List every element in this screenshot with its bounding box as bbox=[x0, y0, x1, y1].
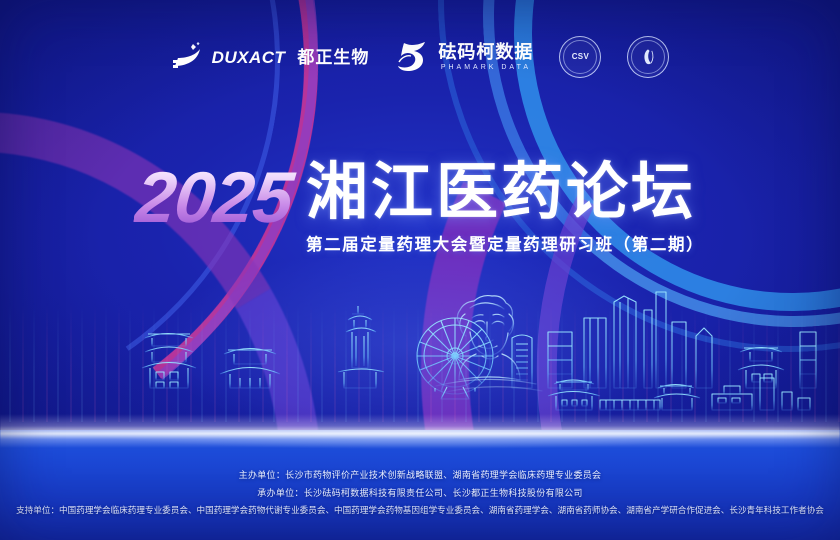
csv-seal-icon: CSV bbox=[559, 36, 601, 78]
csv-seal-label: CSV bbox=[572, 53, 589, 61]
logo-duxact: DUXACT 都正生物 bbox=[171, 40, 370, 74]
duxact-en-label: DUXACT bbox=[212, 49, 286, 66]
sponsor-logo-bar: DUXACT 都正生物 砝码柯数据 PHAMARK DATA CSV bbox=[0, 36, 840, 78]
logo-pharmark: 砝码柯数据 PHAMARK DATA bbox=[395, 40, 533, 74]
pharmark-cn-label: 砝码柯数据 bbox=[438, 43, 533, 62]
organizer-line: 主办单位：长沙市药物评价产业技术创新战略联盟、湖南省药理学会临床药理专业委员会 bbox=[0, 467, 840, 484]
sub-title: 第二届定量药理大会暨定量药理研习班（第二期） bbox=[306, 231, 704, 255]
footer-credits: 主办单位：长沙市药物评价产业技术创新战略联盟、湖南省药理学会临床药理专业委员会 … bbox=[0, 467, 840, 518]
year-label: 2025 bbox=[132, 162, 310, 234]
duxact-swoosh-icon bbox=[171, 40, 205, 74]
pharmark-b-icon bbox=[395, 40, 431, 74]
university-seal-emblem bbox=[635, 44, 661, 70]
undertaker-line: 承办单位：长沙砝码柯数据科技有限责任公司、长沙都正生物科技股份有限公司 bbox=[0, 485, 840, 502]
university-seal-icon bbox=[627, 36, 669, 78]
title-block: 2025 湘江医药论坛 第二届定量药理大会暨定量药理研习班（第二期） bbox=[0, 160, 840, 255]
main-title: 湘江医药论坛 bbox=[306, 160, 704, 223]
conference-poster: DUXACT 都正生物 砝码柯数据 PHAMARK DATA CSV bbox=[0, 0, 840, 540]
pharmark-en-label: PHAMARK DATA bbox=[438, 64, 533, 71]
duxact-cn-label: 都正生物 bbox=[297, 49, 369, 66]
supporter-line: 支持单位：中国药理学会临床药理专业委员会、中国药理学会药物代谢专业委员会、中国药… bbox=[0, 502, 840, 518]
